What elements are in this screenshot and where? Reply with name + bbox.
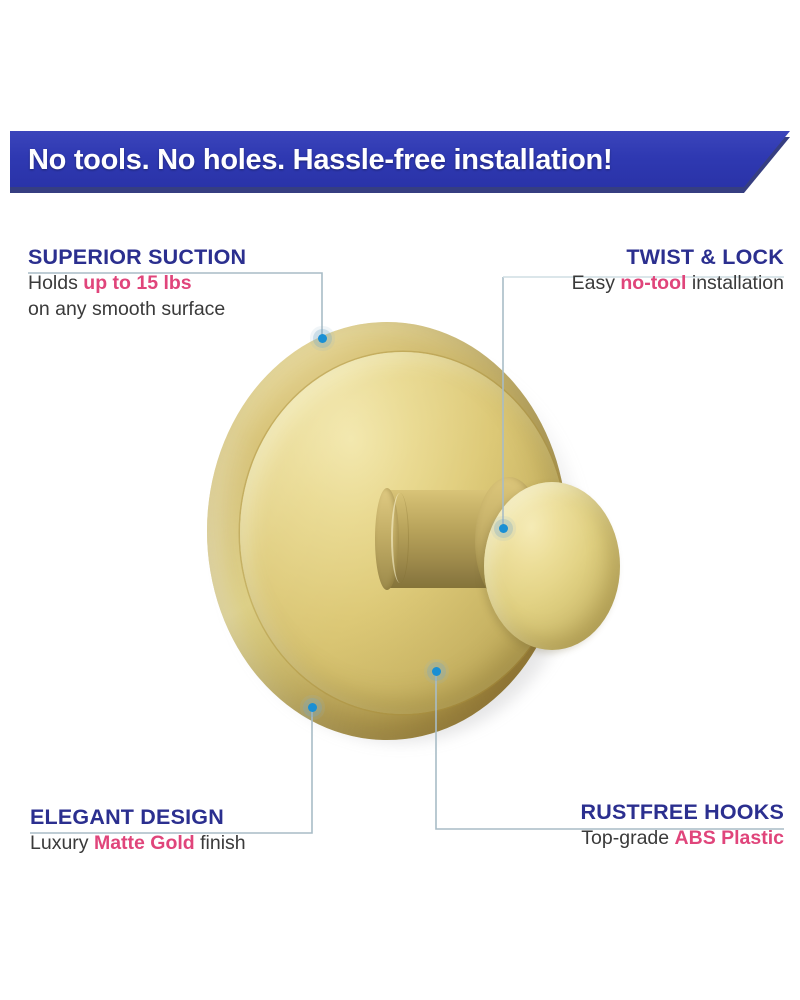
callout-sub-twist-lock: Easy no-tool installation xyxy=(572,270,784,296)
headline-banner: No tools. No holes. Hassle-free installa… xyxy=(10,131,790,193)
callout-headline-elegant-design: ELEGANT DESIGN xyxy=(30,806,246,830)
sub-text-pre: Holds xyxy=(28,272,83,294)
hook-end-cap-sheen xyxy=(484,482,620,650)
product-image-wall-hook xyxy=(195,315,635,745)
hotspot-rustfree-hooks xyxy=(432,667,441,676)
hook-peg-seam-ring xyxy=(391,493,409,583)
callout-elegant-design: ELEGANT DESIGN Luxury Matte Gold finish xyxy=(30,806,246,856)
sub-text-pre: Top-grade xyxy=(581,827,674,849)
callout-sub-rustfree-hooks: Top-grade ABS Plastic xyxy=(581,825,784,851)
callout-rustfree-hooks: RUSTFREE HOOKS Top-grade ABS Plastic xyxy=(581,801,784,851)
sub-text-pre: Easy xyxy=(572,272,621,294)
sub-text-pre: Luxury xyxy=(30,832,94,854)
callout-superior-suction: SUPERIOR SUCTION Holds up to 15 lbs on a… xyxy=(28,246,246,322)
callout-sub-superior-suction: Holds up to 15 lbs xyxy=(28,270,246,296)
sub-text-accent: no-tool xyxy=(620,272,686,294)
hotspot-twist-lock xyxy=(499,524,508,533)
infographic-page: No tools. No holes. Hassle-free installa… xyxy=(0,0,800,1000)
hotspot-superior-suction xyxy=(318,334,327,343)
sub-text-accent: Matte Gold xyxy=(94,832,195,854)
callout-sub-line2-superior-suction: on any smooth surface xyxy=(28,296,246,322)
callout-headline-twist-lock: TWIST & LOCK xyxy=(572,246,784,270)
callout-sub-elegant-design: Luxury Matte Gold finish xyxy=(30,830,246,856)
banner-headline-text: No tools. No holes. Hassle-free installa… xyxy=(28,134,612,186)
sub-text-post: finish xyxy=(195,832,246,854)
callout-headline-superior-suction: SUPERIOR SUCTION xyxy=(28,246,246,270)
callout-twist-lock: TWIST & LOCK Easy no-tool installation xyxy=(572,246,784,296)
sub-text-post: installation xyxy=(686,272,784,294)
sub-text-accent: up to 15 lbs xyxy=(83,272,191,294)
hotspot-elegant-design xyxy=(308,703,317,712)
callout-headline-rustfree-hooks: RUSTFREE HOOKS xyxy=(581,801,784,825)
sub-text-accent: ABS Plastic xyxy=(675,827,784,849)
